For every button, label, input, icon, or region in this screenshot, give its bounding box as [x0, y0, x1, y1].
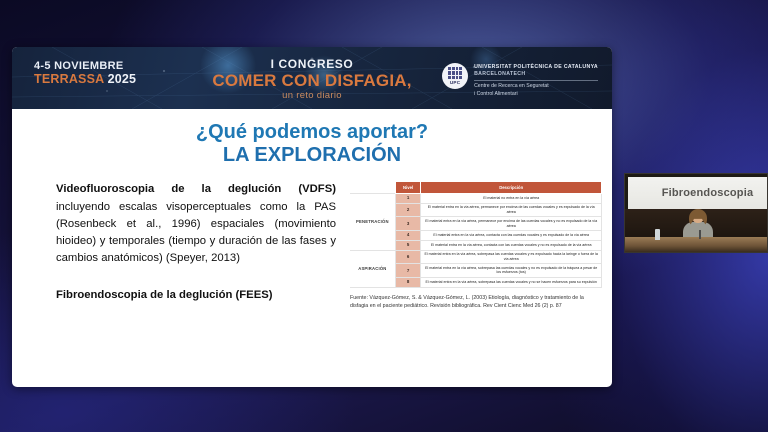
upc-logo-text: UNIVERSITAT POLITÈCNICA DE CATALUNYA BAR…: [474, 63, 598, 98]
pas-description-cell: El material entra en la vía aérea, sobre…: [421, 277, 602, 287]
pas-level-cell: 1: [395, 193, 421, 203]
pas-level-cell: 5: [395, 240, 421, 250]
upc-org-line2: BARCELONATECH: [474, 71, 598, 78]
slide-title-line2: LA EXPLORACIÓN: [12, 144, 612, 167]
video-projected-screen: Fibroendoscopia: [628, 177, 768, 209]
slide-columns: Videofluoroscopia de la deglución (VDFS)…: [12, 181, 612, 310]
pas-group-label: ASPIRACIÓN: [350, 250, 395, 287]
pas-scale-table: Nivel Descripción PENETRACIÓN1El materia…: [350, 181, 602, 287]
presentation-slide: 4-5 NOVIEMBRE TERRASSA 2025 I CONGRESO C…: [12, 47, 612, 387]
slide-text-column: Videofluoroscopia de la deglución (VDFS)…: [56, 181, 336, 310]
pas-header-nivel: Nivel: [395, 182, 421, 193]
upc-mark-text: UPC: [450, 80, 460, 85]
pas-description-cell: El material entra en la vía aérea, conta…: [421, 230, 602, 240]
pas-level-cell: 7: [395, 264, 421, 278]
slide-title-line1: ¿Qué podemos aportar?: [12, 121, 612, 144]
video-water-bottle: [655, 229, 660, 240]
pas-description-cell: El material no entra en la vía aérea: [421, 193, 602, 203]
pas-group-label: PENETRACIÓN: [350, 193, 395, 250]
upc-mark-icon: UPC: [442, 63, 468, 89]
congress-banner: 4-5 NOVIEMBRE TERRASSA 2025 I CONGRESO C…: [12, 47, 612, 109]
vdfs-paragraph-rest: incluyendo escalas visoperceptuales como…: [56, 201, 336, 264]
pas-description-cell: El material entra en la vía aérea, perma…: [421, 203, 602, 217]
video-microphone: [699, 230, 701, 239]
pas-header-blank: [350, 182, 395, 193]
pas-level-cell: 8: [395, 277, 421, 287]
video-podium-desk: [625, 237, 768, 252]
pas-description-cell: El material entra en la vía aérea, sobre…: [421, 264, 602, 278]
pas-table-row: ASPIRACIÓN6El material entra en la vía a…: [350, 250, 602, 264]
pas-level-cell: 4: [395, 230, 421, 240]
pas-level-cell: 2: [395, 203, 421, 217]
slide-table-column: Nivel Descripción PENETRACIÓN1El materia…: [350, 181, 602, 310]
pas-level-cell: 6: [395, 250, 421, 264]
vdfs-paragraph-lead: Videofluoroscopia de la deglución (VDFS): [56, 183, 336, 195]
upc-org-line1: UNIVERSITAT POLITÈCNICA DE CATALUNYA: [474, 64, 598, 71]
slide-body: ¿Qué podemos aportar? LA EXPLORACIÓN Vid…: [12, 109, 612, 387]
logo-divider: [474, 80, 598, 81]
pas-header-descripcion: Descripción: [421, 182, 602, 193]
vdfs-paragraph: Videofluoroscopia de la deglución (VDFS)…: [56, 181, 336, 267]
pas-header-row: Nivel Descripción: [350, 182, 602, 193]
upc-unit-line1: Centre de Recerca en Seguretat: [474, 83, 598, 91]
video-projected-text: Fibroendoscopia: [662, 187, 754, 199]
table-source-citation: Fuente: Vázquez-Gómez, S. & Vázquez-Góme…: [350, 294, 602, 310]
upc-unit-line2: i Control Alimentari: [474, 91, 598, 99]
upc-logo: UPC UNIVERSITAT POLITÈCNICA DE CATALUNYA…: [442, 63, 598, 98]
pas-table-head: Nivel Descripción: [350, 182, 602, 193]
pas-description-cell: El material entra en la vía aérea, conta…: [421, 240, 602, 250]
slide-title: ¿Qué podemos aportar? LA EXPLORACIÓN: [12, 109, 612, 167]
pas-table-body: PENETRACIÓN1El material no entra en la v…: [350, 193, 602, 287]
fees-heading: Fibroendoscopia de la deglución (FEES): [56, 289, 336, 301]
speaker-video-thumbnail[interactable]: Fibroendoscopia: [624, 173, 768, 253]
pas-table-row: PENETRACIÓN1El material no entra en la v…: [350, 193, 602, 203]
pas-description-cell: El material entra en la vía aérea, sobre…: [421, 250, 602, 264]
upc-grid-icon: [448, 67, 462, 79]
pas-description-cell: El material entra en la vía aérea, perma…: [421, 217, 602, 231]
pas-level-cell: 3: [395, 217, 421, 231]
screen-background: 4-5 NOVIEMBRE TERRASSA 2025 I CONGRESO C…: [0, 0, 768, 432]
